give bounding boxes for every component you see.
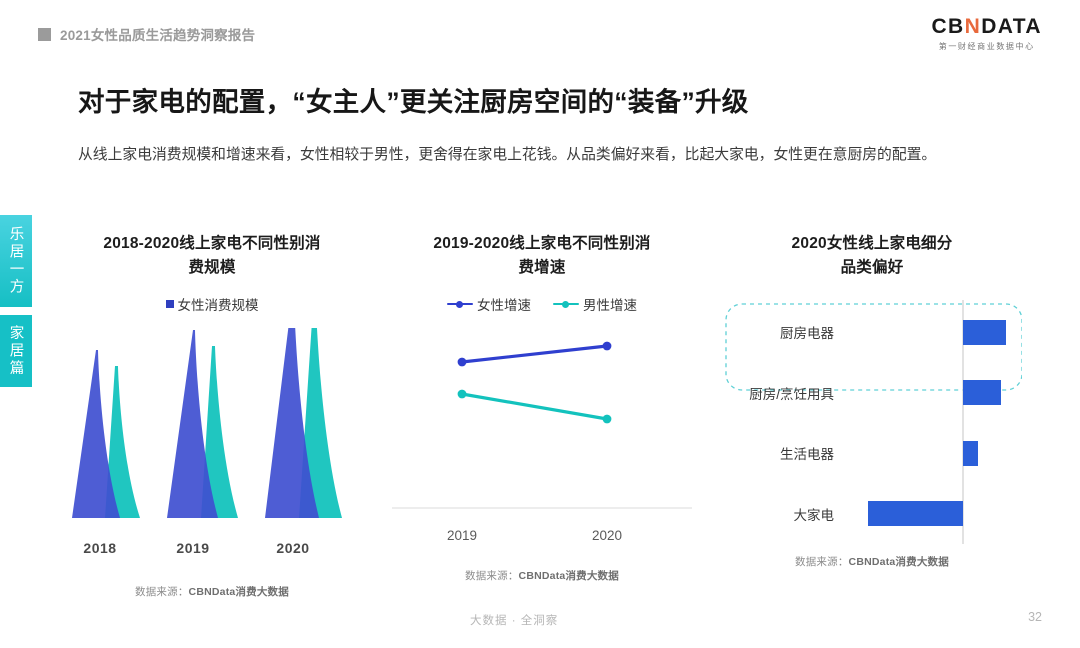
chart1-year-2019: 2019 [176, 540, 209, 556]
logo-wordmark: CBNDATA [931, 16, 1042, 38]
side-tab-jiaju[interactable]: 家居篇 [0, 315, 32, 387]
chart2-legend: 女性增速 男性增速 [392, 294, 692, 314]
chart1-group-2018 [72, 350, 140, 518]
chart2-title: 2019-2020线上家电不同性别消 费增速 [392, 232, 692, 280]
legend-item-female-scale: 女性消费规模 [166, 294, 259, 314]
chart1-legend: 女性消费规模 [62, 294, 362, 314]
chart3-title: 2020女性线上家电细分 品类偏好 [722, 232, 1022, 280]
logo-part-left: CB [931, 15, 964, 38]
chart1-group-2020 [265, 328, 342, 518]
page-subtitle: 从线上家电消费规模和增速来看，女性相较于男性，更舍得在家电上花钱。从品类偏好来看… [78, 143, 1008, 168]
chart3-bar-large-appliance [868, 501, 963, 526]
chart1-title-line2: 费规模 [62, 256, 362, 280]
chart1-source-prefix: 数据来源： [135, 586, 189, 598]
chart1-group-2019 [167, 330, 238, 518]
chart2-title-line2: 费增速 [392, 256, 692, 280]
chart1-source-value: CBNData消费大数据 [189, 586, 289, 598]
chart2-x-2019: 2019 [447, 528, 477, 543]
kicker-square-icon [38, 28, 51, 41]
chart2-x-labels: 2019 2020 [392, 528, 692, 552]
chart-panel-category-preference: 2020女性线上家电细分 品类偏好 厨房电器 厨房/烹饪用具 生活电器 大家电 [722, 232, 1022, 569]
chart1-year-2020: 2020 [276, 540, 309, 556]
slide: 2021女性品质生活趋势洞察报告 CBNDATA 第一财经商业数据中心 对于家电… [0, 0, 1080, 648]
chart3-title-line1: 2020女性线上家电细分 [722, 232, 1022, 256]
legend-item-female-growth: 女性增速 [447, 294, 531, 314]
chart2-source-prefix: 数据来源： [465, 570, 519, 582]
chart1-plot [62, 328, 362, 538]
page-title: 对于家电的配置，“女主人”更关注厨房空间的“装备”升级 [78, 80, 749, 119]
chart3-title-line2: 品类偏好 [722, 256, 1022, 280]
chart3-label-2: 生活电器 [780, 447, 834, 462]
chart3-plot: 厨房电器 厨房/烹饪用具 生活电器 大家电 [722, 298, 1022, 548]
legend-label: 女性消费规模 [178, 294, 259, 314]
chart1-source: 数据来源：CBNData消费大数据 [62, 584, 362, 599]
chart2-title-line1: 2019-2020线上家电不同性别消 [392, 232, 692, 256]
logo-part-accent: N [965, 15, 982, 38]
chart3-source-value: CBNData消费大数据 [849, 556, 949, 568]
legend-square-icon [166, 300, 174, 308]
chart3-source: 数据来源：CBNData消费大数据 [722, 554, 1022, 569]
chart3-bar-kitchen-cookware [963, 380, 1001, 405]
footer-note: 大数据 · 全洞察 [470, 612, 558, 628]
page-number: 32 [1028, 610, 1042, 624]
chart-panel-consumption-scale: 2018-2020线上家电不同性别消 费规模 女性消费规模 [62, 232, 362, 599]
chart1-svg [62, 328, 362, 528]
logo-part-right: DATA [981, 15, 1042, 38]
legend-line-blue-icon [447, 299, 473, 309]
logo-subtitle: 第一财经商业数据中心 [931, 41, 1042, 52]
legend-label: 女性增速 [477, 294, 531, 314]
chart3-svg: 厨房电器 厨房/烹饪用具 生活电器 大家电 [722, 298, 1022, 548]
legend-label: 男性增速 [583, 294, 637, 314]
chart2-series-male [458, 390, 612, 424]
chart3-label-3: 大家电 [794, 507, 835, 523]
chart-panel-growth-rate: 2019-2020线上家电不同性别消 费增速 女性增速 男性增速 [392, 232, 692, 583]
chart1-year-2018: 2018 [83, 540, 116, 556]
chart2-source: 数据来源：CBNData消费大数据 [392, 568, 692, 583]
chart3-label-1: 厨房/烹饪用具 [749, 386, 834, 402]
chart1-year-labels: 2018 2019 2020 [62, 540, 362, 562]
report-kicker: 2021女性品质生活趋势洞察报告 [38, 24, 255, 44]
legend-line-teal-icon [553, 299, 579, 309]
chart3-label-0: 厨房电器 [780, 326, 834, 341]
chart3-highlight-box [726, 304, 1022, 390]
chart3-bar-life-appliance [963, 441, 978, 466]
cbndata-logo: CBNDATA 第一财经商业数据中心 [931, 16, 1042, 52]
chart2-x-2020: 2020 [592, 528, 622, 543]
chart2-plot [392, 324, 692, 524]
chart2-source-value: CBNData消费大数据 [519, 570, 619, 582]
chart1-title-line1: 2018-2020线上家电不同性别消 [62, 232, 362, 256]
legend-item-male-growth: 男性增速 [553, 294, 637, 314]
side-tab-leju[interactable]: 乐居一方 [0, 215, 32, 307]
chart3-bar-kitchen-appliance [963, 320, 1006, 345]
kicker-label: 2021女性品质生活趋势洞察报告 [60, 24, 255, 44]
chart1-title: 2018-2020线上家电不同性别消 费规模 [62, 232, 362, 280]
chart3-source-prefix: 数据来源： [795, 556, 849, 568]
chart2-svg [392, 324, 692, 524]
chart2-series-female [458, 342, 612, 367]
